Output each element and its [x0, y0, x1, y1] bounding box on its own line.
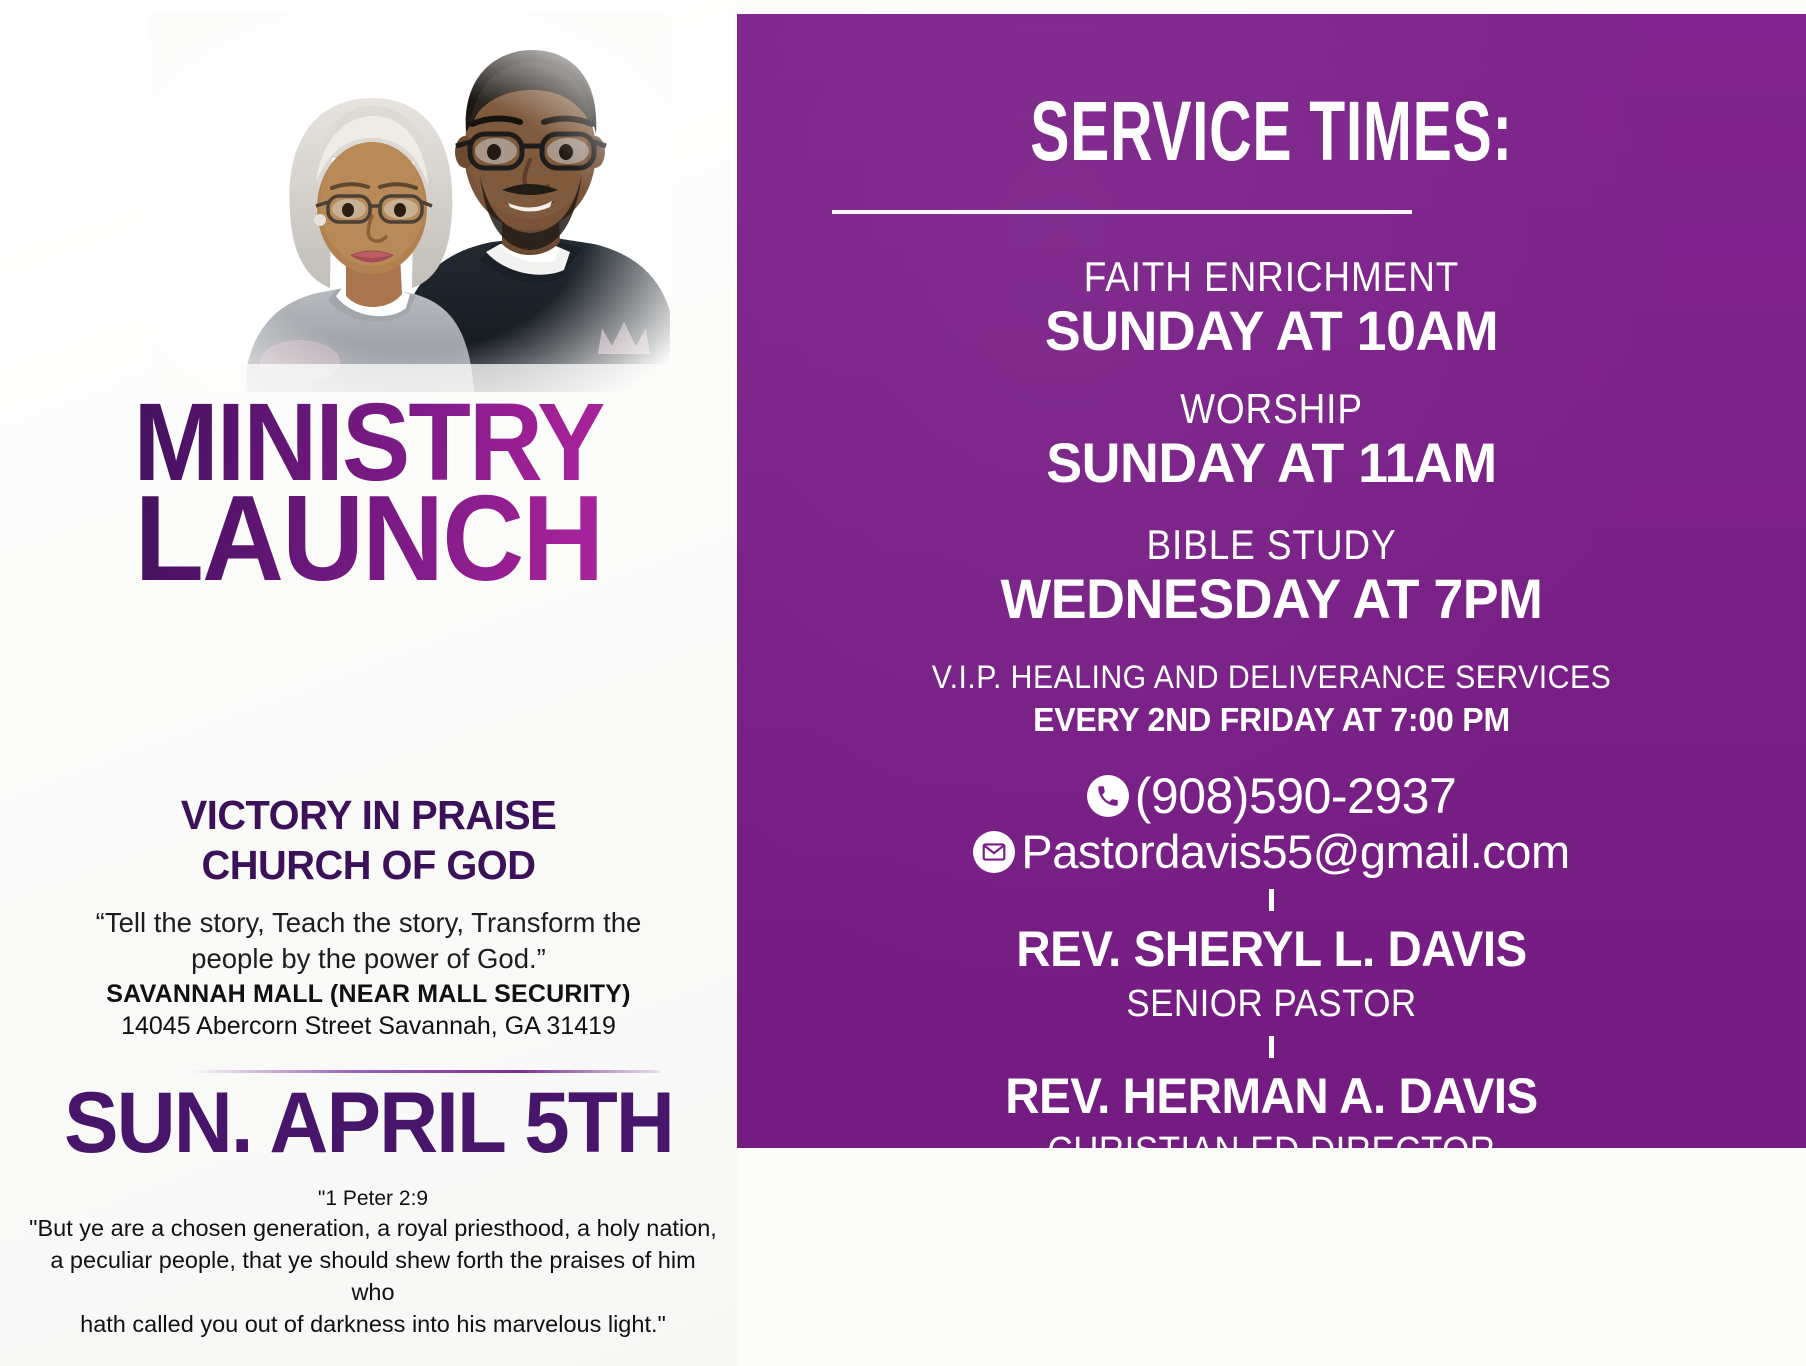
venue-address: SAVANNAH MALL (NEAR MALL SECURITY) 14045…	[60, 980, 677, 1041]
service-item-bible-study: BIBLE STUDY WEDNESDAY AT 7PM	[737, 522, 1806, 629]
service-item-faith-enrichment: FAITH ENRICHMENT SUNDAY AT 10AM	[737, 254, 1806, 361]
leaders-block: REV. SHERYL L. DAVIS SENIOR PASTOR REV. …	[737, 889, 1806, 1148]
street-address: 14045 Abercorn Street Savannah, GA 31419	[60, 1012, 677, 1041]
leader-name-senior-pastor: REV. SHERYL L. DAVIS	[764, 921, 1780, 977]
phone-icon	[1087, 775, 1129, 817]
email-address: Pastordavis55@gmail.com	[1021, 827, 1569, 878]
event-date: SUN. APRIL 5TH	[18, 1080, 718, 1166]
envelope-icon	[973, 831, 1015, 873]
panel-title-divider	[832, 210, 1412, 214]
service-item-worship: WORSHIP SUNDAY AT 11AM	[737, 386, 1806, 493]
service-time: SUNDAY AT 10AM	[758, 301, 1784, 361]
phone-row[interactable]: (908)590-2937	[737, 769, 1806, 823]
contact-block: (908)590-2937 Pastordavis55@gmail.com	[737, 769, 1806, 878]
title-line-launch: LAUNCH	[26, 485, 711, 591]
phone-number: (908)590-2937	[1135, 769, 1457, 823]
venue-name: SAVANNAH MALL (NEAR MALL SECURITY)	[60, 980, 677, 1009]
service-label: WORSHIP	[801, 386, 1742, 431]
service-label: BIBLE STUDY	[801, 522, 1742, 567]
service-label: FAITH ENRICHMENT	[801, 254, 1742, 299]
event-title: MINISTRY LAUNCH	[0, 395, 737, 591]
scripture-line-3: hath called you out of darkness into his…	[28, 1309, 718, 1341]
vip-time: EVERY 2ND FRIDAY AT 7:00 PM	[753, 701, 1790, 739]
flyer-page: MINISTRY LAUNCH VICTORY IN PRAISE CHURCH…	[0, 0, 1806, 1366]
service-time: SUNDAY AT 11AM	[758, 433, 1784, 493]
church-name-line-2: CHURCH OF GOD	[11, 840, 726, 890]
date-divider	[190, 1070, 660, 1073]
service-times-panel: SERVICE TIMES: FAITH ENRICHMENT SUNDAY A…	[737, 14, 1806, 1148]
church-name-line-1: VICTORY IN PRAISE	[11, 790, 726, 840]
panel-title: SERVICE TIMES:	[897, 89, 1645, 173]
left-column: MINISTRY LAUNCH VICTORY IN PRAISE CHURCH…	[0, 0, 737, 1366]
email-row[interactable]: Pastordavis55@gmail.com	[737, 827, 1806, 878]
leader-name-christian-ed-director: REV. HERMAN A. DAVIS	[764, 1068, 1780, 1124]
leader-divider-tick	[1269, 889, 1274, 911]
church-motto: “Tell the story, Teach the story, Transf…	[95, 905, 642, 977]
scripture-reference: "1 Peter 2:9	[28, 1185, 718, 1213]
leader-role-senior-pastor: SENIOR PASTOR	[780, 983, 1763, 1026]
leader-role-christian-ed-director: CHRISTIAN ED DIRECTOR	[780, 1130, 1763, 1148]
scripture-line-2: a peculiar people, that ye should shew f…	[28, 1245, 718, 1309]
scripture-line-1: "But ye are a chosen generation, a royal…	[28, 1213, 718, 1245]
service-time: WEDNESDAY AT 7PM	[758, 569, 1784, 629]
scripture-block: "1 Peter 2:9 "But ye are a chosen genera…	[28, 1185, 718, 1341]
pastors-photo	[150, 12, 670, 392]
pastors-photo-illustration	[150, 12, 670, 392]
vip-label: V.I.P. HEALING AND DELIVERANCE SERVICES	[774, 659, 1768, 696]
vip-service-item: V.I.P. HEALING AND DELIVERANCE SERVICES …	[737, 659, 1806, 739]
leader-divider-tick	[1269, 1036, 1274, 1058]
church-name: VICTORY IN PRAISE CHURCH OF GOD	[0, 790, 737, 890]
